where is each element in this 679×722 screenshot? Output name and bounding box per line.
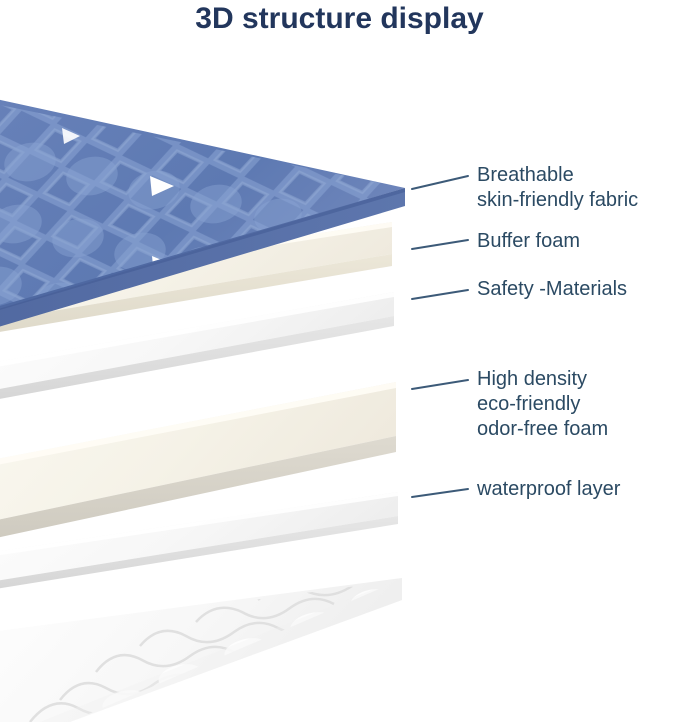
leader-line-4 bbox=[412, 380, 468, 389]
leader-line-5 bbox=[412, 489, 468, 497]
label-safety-materials: Safety -Materials bbox=[477, 277, 627, 302]
layer-6-quilted-base bbox=[0, 578, 402, 722]
leader-line-1 bbox=[412, 176, 468, 189]
label-buffer-foam: Buffer foam bbox=[477, 229, 580, 254]
leader-line-2 bbox=[412, 240, 468, 249]
leader-lines bbox=[412, 176, 468, 497]
layer-stack-illustration bbox=[0, 0, 679, 722]
label-waterproof-layer: waterproof layer bbox=[477, 477, 620, 502]
leader-line-3 bbox=[412, 290, 468, 299]
page-title: 3D structure display bbox=[0, 2, 679, 36]
label-breathable-fabric: Breathable skin-friendly fabric bbox=[477, 163, 638, 213]
label-high-density-foam: High density eco-friendly odor-free foam bbox=[477, 367, 608, 442]
structure-diagram: 3D structure display Breathable skin-fri… bbox=[0, 0, 679, 722]
